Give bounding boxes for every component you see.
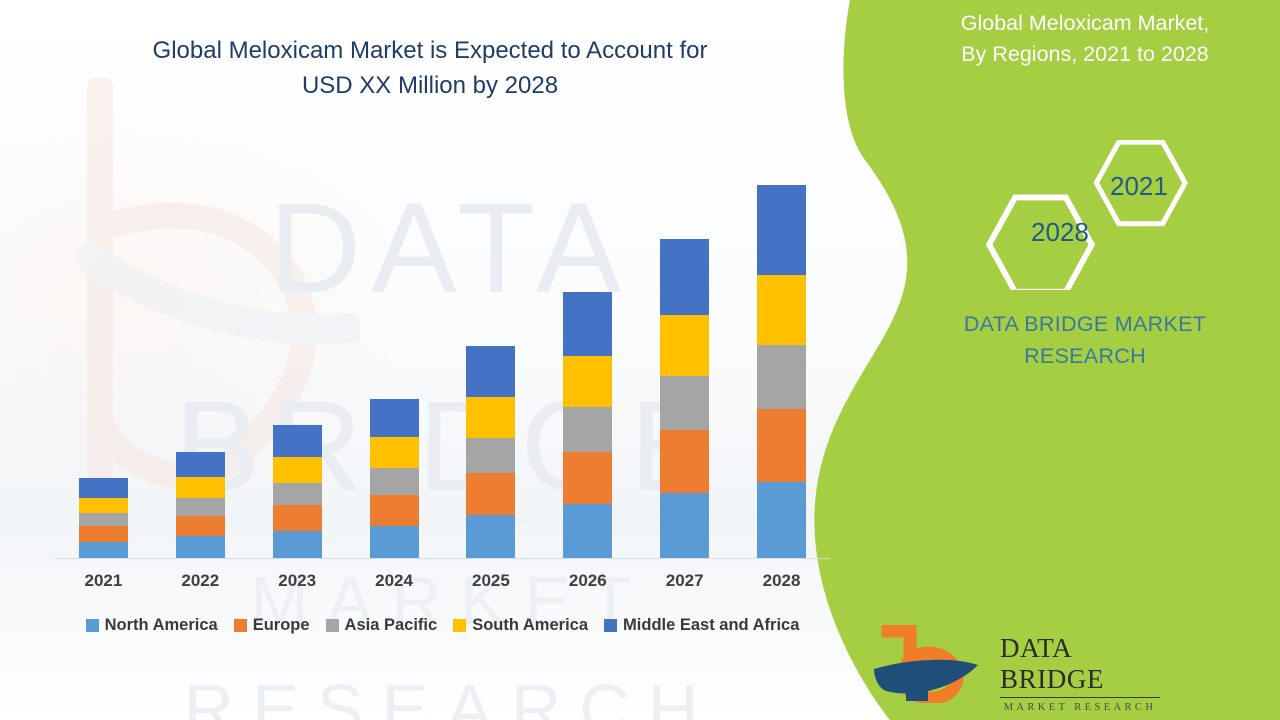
bar-2026 [563, 292, 612, 558]
x-axis-label-2023: 2023 [249, 571, 346, 591]
logo-mark-icon [870, 625, 990, 703]
bar-segment [563, 407, 612, 452]
bar-segment [563, 292, 612, 356]
bar-segment [757, 482, 806, 558]
bar-2025 [466, 346, 515, 558]
legend-item[interactable]: Asia Pacific [326, 616, 438, 635]
bar-segment [273, 425, 322, 457]
chart-legend: North AmericaEuropeAsia PacificSouth Ame… [55, 616, 830, 635]
chart-title-line2: USD XX Million by 2028 [60, 69, 800, 104]
bar-segment [79, 478, 128, 497]
stacked-bar-chart [55, 160, 830, 558]
bar-segment [370, 495, 419, 526]
legend-item[interactable]: South America [453, 616, 588, 635]
bar-segment [660, 430, 709, 493]
legend-item[interactable]: Europe [234, 616, 310, 635]
legend-label: Europe [253, 616, 310, 635]
chart-title-line1: Global Meloxicam Market is Expected to A… [60, 34, 800, 69]
bar-segment [466, 473, 515, 515]
bar-segment [273, 483, 322, 505]
hexagon-2028-label: 2028 [1031, 217, 1089, 247]
legend-label: Middle East and Africa [623, 616, 799, 635]
legend-swatch-icon [604, 619, 617, 632]
x-axis-label-2027: 2027 [636, 571, 733, 591]
chart-title: Global Meloxicam Market is Expected to A… [60, 34, 800, 104]
x-axis-line [55, 558, 830, 559]
bar-segment [660, 239, 709, 315]
bar-slot [152, 160, 249, 558]
bar-segment [273, 457, 322, 482]
bar-segment [79, 498, 128, 513]
bar-segment [79, 542, 128, 558]
bar-segment [466, 397, 515, 438]
bar-segment [660, 315, 709, 376]
legend-swatch-icon [453, 619, 466, 632]
hexagon-group: 2028 2021 [970, 140, 1200, 290]
x-axis-label-2025: 2025 [443, 571, 540, 591]
panel-title: Global Meloxicam Market, By Regions, 202… [900, 8, 1270, 70]
bar-2024 [370, 399, 419, 558]
bar-segment [466, 438, 515, 474]
bar-segment [466, 515, 515, 558]
bar-slot [346, 160, 443, 558]
x-axis-label-2021: 2021 [55, 571, 152, 591]
bar-segment [660, 493, 709, 558]
bar-segment [370, 468, 419, 495]
panel-brand-line1: DATA BRIDGE MARKET [930, 308, 1240, 340]
panel-title-line2: By Regions, 2021 to 2028 [900, 39, 1270, 70]
bar-segment [273, 531, 322, 558]
bar-2021 [79, 478, 128, 558]
x-axis-label-2026: 2026 [539, 571, 636, 591]
bar-slot [55, 160, 152, 558]
panel-brand-text: DATA BRIDGE MARKET RESEARCH [930, 308, 1240, 373]
bar-slot [539, 160, 636, 558]
bar-segment [370, 526, 419, 558]
bar-segment [757, 409, 806, 482]
bar-segment [79, 513, 128, 526]
bar-slot [733, 160, 830, 558]
bar-segment [563, 504, 612, 558]
bar-segment [79, 526, 128, 542]
bar-slot [636, 160, 733, 558]
bar-segment [176, 452, 225, 477]
right-green-panel: Global Meloxicam Market, By Regions, 202… [810, 0, 1280, 720]
bar-segment [757, 275, 806, 346]
bar-segment [273, 505, 322, 531]
bar-2023 [273, 425, 322, 558]
bar-segment [176, 498, 225, 516]
x-axis-label-2022: 2022 [152, 571, 249, 591]
bar-segment [757, 345, 806, 408]
logo-sub-text: MARKET RESEARCH [1000, 702, 1160, 713]
legend-swatch-icon [86, 619, 99, 632]
bar-segment [370, 399, 419, 437]
legend-swatch-icon [326, 619, 339, 632]
bar-2027 [660, 239, 709, 558]
bar-2028 [757, 185, 806, 558]
legend-label: North America [105, 616, 218, 635]
x-axis-label-2028: 2028 [733, 571, 830, 591]
logo-main-text: DATA BRIDGE [1000, 633, 1160, 698]
legend-item[interactable]: Middle East and Africa [604, 616, 799, 635]
legend-swatch-icon [234, 619, 247, 632]
bar-segment [370, 437, 419, 468]
bar-segment [176, 536, 225, 558]
bar-segment [563, 452, 612, 504]
panel-title-line1: Global Meloxicam Market, [900, 8, 1270, 39]
bar-segment [757, 185, 806, 275]
bar-segment [466, 346, 515, 397]
bar-segment [660, 376, 709, 430]
legend-label: South America [472, 616, 588, 635]
hexagon-2021-label: 2021 [1110, 171, 1168, 201]
bar-segment [176, 477, 225, 497]
bar-2022 [176, 452, 225, 558]
bar-slot [249, 160, 346, 558]
company-logo: DATA BRIDGE MARKET RESEARCH [870, 625, 1160, 703]
x-axis-label-2024: 2024 [346, 571, 443, 591]
x-axis-labels: 20212022202320242025202620272028 [55, 571, 830, 591]
bar-slot [443, 160, 540, 558]
panel-brand-line2: RESEARCH [930, 340, 1240, 372]
bar-segment [176, 516, 225, 537]
legend-item[interactable]: North America [86, 616, 218, 635]
bar-segment [563, 356, 612, 407]
legend-label: Asia Pacific [345, 616, 438, 635]
